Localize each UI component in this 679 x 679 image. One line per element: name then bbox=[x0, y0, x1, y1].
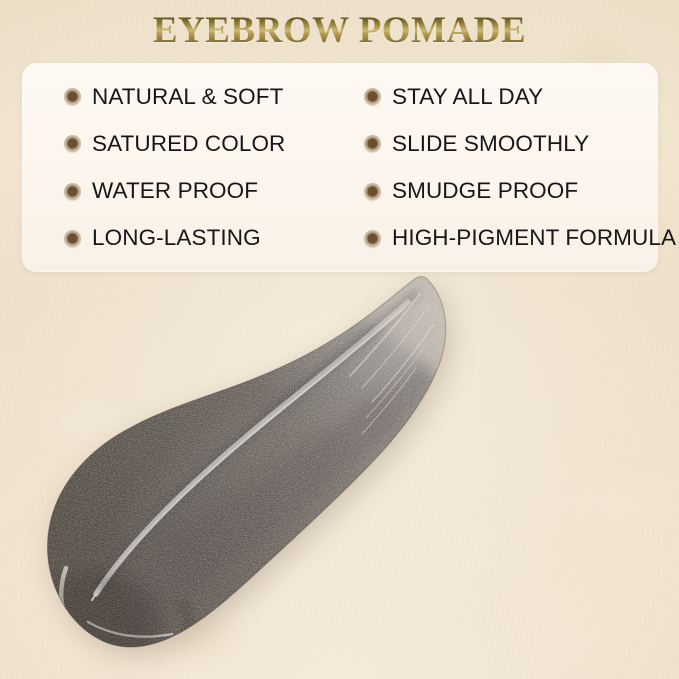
feature-label: SATURED COLOR bbox=[92, 131, 285, 157]
feature-label: STAY ALL DAY bbox=[392, 84, 543, 110]
product-infographic: EYEBROW POMADE NATURAL & SOFT STAY ALL D… bbox=[0, 0, 679, 679]
feature-item-high-pigment-formula: HIGH-PIGMENT FORMULA bbox=[364, 225, 676, 251]
swatch-body bbox=[22, 277, 446, 679]
pomade-swatch bbox=[0, 250, 679, 679]
feature-label: WATER PROOF bbox=[92, 178, 258, 204]
page-title: EYEBROW POMADE bbox=[153, 12, 526, 51]
feature-label: NATURAL & SOFT bbox=[92, 84, 283, 110]
feature-item-natural-and-soft: NATURAL & SOFT bbox=[64, 84, 364, 110]
feature-label: SLIDE SMOOTHLY bbox=[392, 131, 589, 157]
feature-label: HIGH-PIGMENT FORMULA bbox=[392, 225, 676, 251]
filled-circle-bullet-icon bbox=[364, 88, 381, 105]
pomade-swatch-illustration bbox=[0, 250, 679, 679]
filled-circle-bullet-icon bbox=[64, 88, 81, 105]
feature-item-water-proof: WATER PROOF bbox=[64, 178, 364, 204]
feature-item-slide-smoothly: SLIDE SMOOTHLY bbox=[364, 131, 676, 157]
feature-item-smudge-proof: SMUDGE PROOF bbox=[364, 178, 676, 204]
feature-label: LONG-LASTING bbox=[92, 225, 261, 251]
filled-circle-bullet-icon bbox=[64, 135, 81, 152]
feature-item-satured-color: SATURED COLOR bbox=[64, 131, 364, 157]
filled-circle-bullet-icon bbox=[364, 183, 381, 200]
filled-circle-bullet-icon bbox=[364, 135, 381, 152]
filled-circle-bullet-icon bbox=[364, 230, 381, 247]
page-title-container: EYEBROW POMADE bbox=[0, 12, 679, 51]
feature-item-stay-all-day: STAY ALL DAY bbox=[364, 84, 676, 110]
feature-label: SMUDGE PROOF bbox=[392, 178, 578, 204]
filled-circle-bullet-icon bbox=[64, 183, 81, 200]
feature-item-long-lasting: LONG-LASTING bbox=[64, 225, 364, 251]
feature-panel: NATURAL & SOFT STAY ALL DAY SATURED COLO… bbox=[22, 63, 658, 272]
feature-grid: NATURAL & SOFT STAY ALL DAY SATURED COLO… bbox=[22, 63, 658, 272]
filled-circle-bullet-icon bbox=[64, 230, 81, 247]
